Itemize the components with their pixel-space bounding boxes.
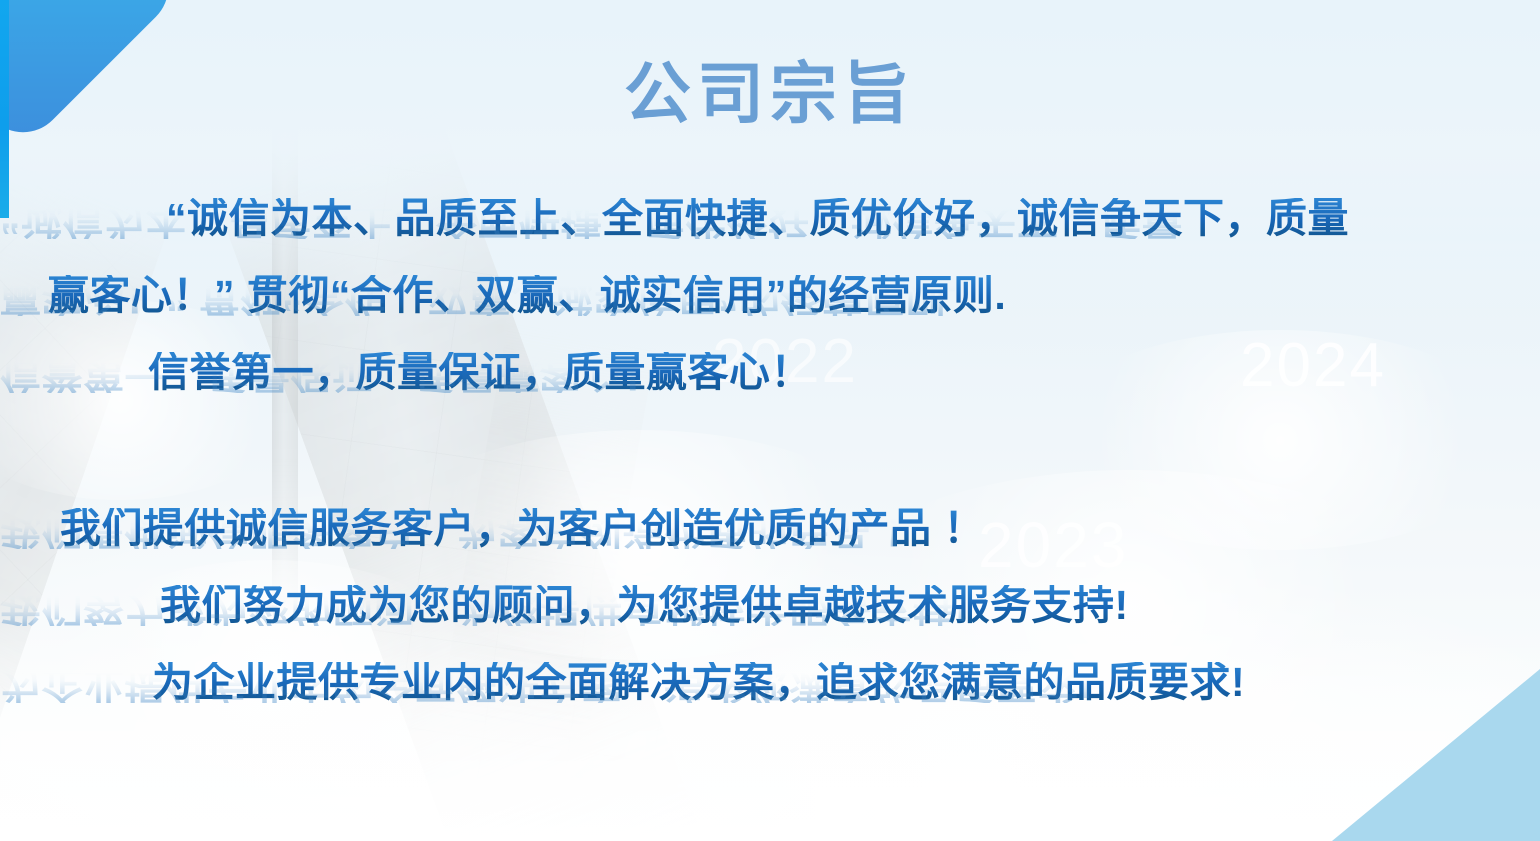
text-line: 赢客心！” 贯彻“合作、双赢、诚实信用”的经营原则. 赢客心！” 贯彻“合作、双…: [0, 275, 1540, 316]
text-line-content: 赢客心！” 贯彻“合作、双赢、诚实信用”的经营原则.: [48, 275, 1006, 316]
text-line: 信誉第一，质量保证，质量赢客心！ 信誉第一，质量保证，质量赢客心！: [0, 352, 1540, 393]
text-line-content: 信誉第一，质量保证，质量赢客心！: [148, 352, 812, 393]
text-line-content: 为企业提供专业内的全面解决方案，追求您满意的品质要求!: [152, 662, 1245, 703]
text-line: 我们努力成为您的顾问，为您提供卓越技术服务支持! 我们努力成为您的顾问，为您提供…: [0, 585, 1540, 626]
text-line: 为企业提供专业内的全面解决方案，追求您满意的品质要求! 为企业提供专业内的全面解…: [0, 662, 1540, 703]
text-line: 我们提供诚信服务客户，为客户创造优质的产品 ！ 我们提供诚信服务客户，为客户创造…: [0, 508, 1540, 549]
paragraph-mission: “诚信为本、品质至上、全面快捷、质优价好，诚信争天下，质量 “诚信为本、品质至上…: [0, 198, 1540, 429]
slide-canvas: 2022 2024 2023 公司宗旨 “诚信为本、品质至上、全面快捷、质优价好…: [0, 0, 1540, 841]
text-line-content: “诚信为本、品质至上、全面快捷、质优价好，诚信争天下，质量: [166, 198, 1349, 239]
text-line: “诚信为本、品质至上、全面快捷、质优价好，诚信争天下，质量 “诚信为本、品质至上…: [0, 198, 1540, 239]
text-line-content: 我们提供诚信服务客户，为客户创造优质的产品 ！: [60, 508, 985, 549]
text-line-content: 我们努力成为您的顾问，为您提供卓越技术服务支持!: [160, 585, 1129, 626]
page-title: 公司宗旨: [0, 58, 1540, 132]
slide-content: 公司宗旨 “诚信为本、品质至上、全面快捷、质优价好，诚信争天下，质量 “诚信为本…: [0, 0, 1540, 841]
paragraph-commitment: 我们提供诚信服务客户，为客户创造优质的产品 ！ 我们提供诚信服务客户，为客户创造…: [0, 508, 1540, 739]
